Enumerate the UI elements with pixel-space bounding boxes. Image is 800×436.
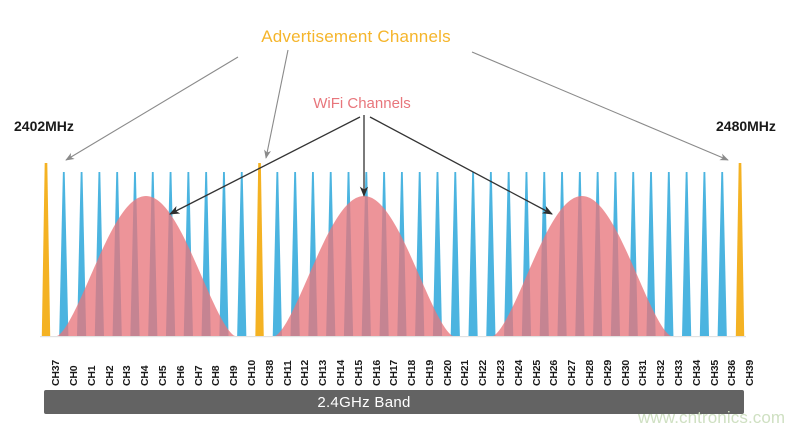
channel-label-ch1: CH1	[86, 366, 98, 386]
advertisement-channels-title-text: Advertisement Channels	[261, 27, 451, 46]
channel-label-ch11: CH11	[282, 361, 294, 386]
advertisement-channels-title: Advertisement Channels	[0, 27, 800, 47]
band-bar-label: 2.4GHz Band	[317, 394, 410, 411]
channel-label-ch20: CH20	[442, 360, 454, 386]
channel-label-ch9: CH9	[228, 366, 240, 386]
channel-label-ch0: CH0	[68, 366, 80, 386]
channel-label-ch14: CH14	[335, 360, 347, 386]
channel-label-ch6: CH6	[175, 366, 187, 386]
channel-label-ch24: CH24	[513, 360, 525, 386]
channel-label-ch19: CH19	[424, 360, 436, 386]
channel-label-ch35: CH35	[709, 360, 721, 386]
channel-label-ch25: CH25	[531, 360, 543, 386]
channel-diagram: CH37CH0CH1CH2CH3CH4CH5CH6CH7CH8CH9CH10CH…	[0, 0, 800, 436]
channel-label-ch32: CH32	[655, 360, 667, 386]
channel-label-ch38: CH38	[264, 360, 276, 386]
channel-label-ch16: CH16	[371, 360, 383, 386]
channel-label-ch10: CH10	[246, 360, 258, 386]
watermark: www.cntronics.com	[638, 408, 785, 428]
channel-label-ch13: CH13	[317, 360, 329, 386]
channel-label-ch3: CH3	[121, 366, 133, 386]
channel-label-ch17: CH17	[388, 360, 400, 386]
frequency-high-label: 2480MHz	[716, 118, 776, 134]
channel-label-ch37: CH37	[50, 360, 62, 386]
channel-label-ch5: CH5	[157, 366, 169, 386]
channel-label-ch29: CH29	[602, 360, 614, 386]
channel-label-ch33: CH33	[673, 360, 685, 386]
channel-label-ch7: CH7	[193, 366, 205, 386]
channel-label-ch23: CH23	[495, 360, 507, 386]
channel-label-ch28: CH28	[584, 360, 596, 386]
channel-label-ch21: CH21	[459, 360, 471, 386]
channel-label-ch39: CH39	[744, 360, 756, 386]
wifi-channels-title-text: WiFi Channels	[313, 95, 411, 112]
channel-label-ch31: CH31	[637, 360, 649, 386]
channel-label-ch8: CH8	[210, 366, 222, 386]
channel-label-ch30: CH30	[620, 360, 632, 386]
wifi-arrow-group	[170, 115, 552, 214]
channel-label-ch12: CH12	[299, 360, 311, 386]
channel-label-ch27: CH27	[566, 360, 578, 386]
channel-label-ch4: CH4	[139, 366, 151, 386]
channel-label-ch15: CH15	[353, 360, 365, 386]
wifi-arrow-left	[170, 117, 360, 214]
wifi-channels-title: WiFi Channels	[0, 95, 800, 112]
channel-label-ch2: CH2	[104, 366, 116, 386]
channel-label-row: CH37CH0CH1CH2CH3CH4CH5CH6CH7CH8CH9CH10CH…	[0, 336, 800, 390]
wifi-arrow-right	[370, 117, 552, 214]
channel-label-ch18: CH18	[406, 360, 418, 386]
channel-label-ch34: CH34	[691, 360, 703, 386]
channel-label-ch22: CH22	[477, 360, 489, 386]
frequency-low-label: 2402MHz	[14, 118, 74, 134]
channel-label-ch26: CH26	[548, 360, 560, 386]
channel-label-ch36: CH36	[726, 360, 738, 386]
